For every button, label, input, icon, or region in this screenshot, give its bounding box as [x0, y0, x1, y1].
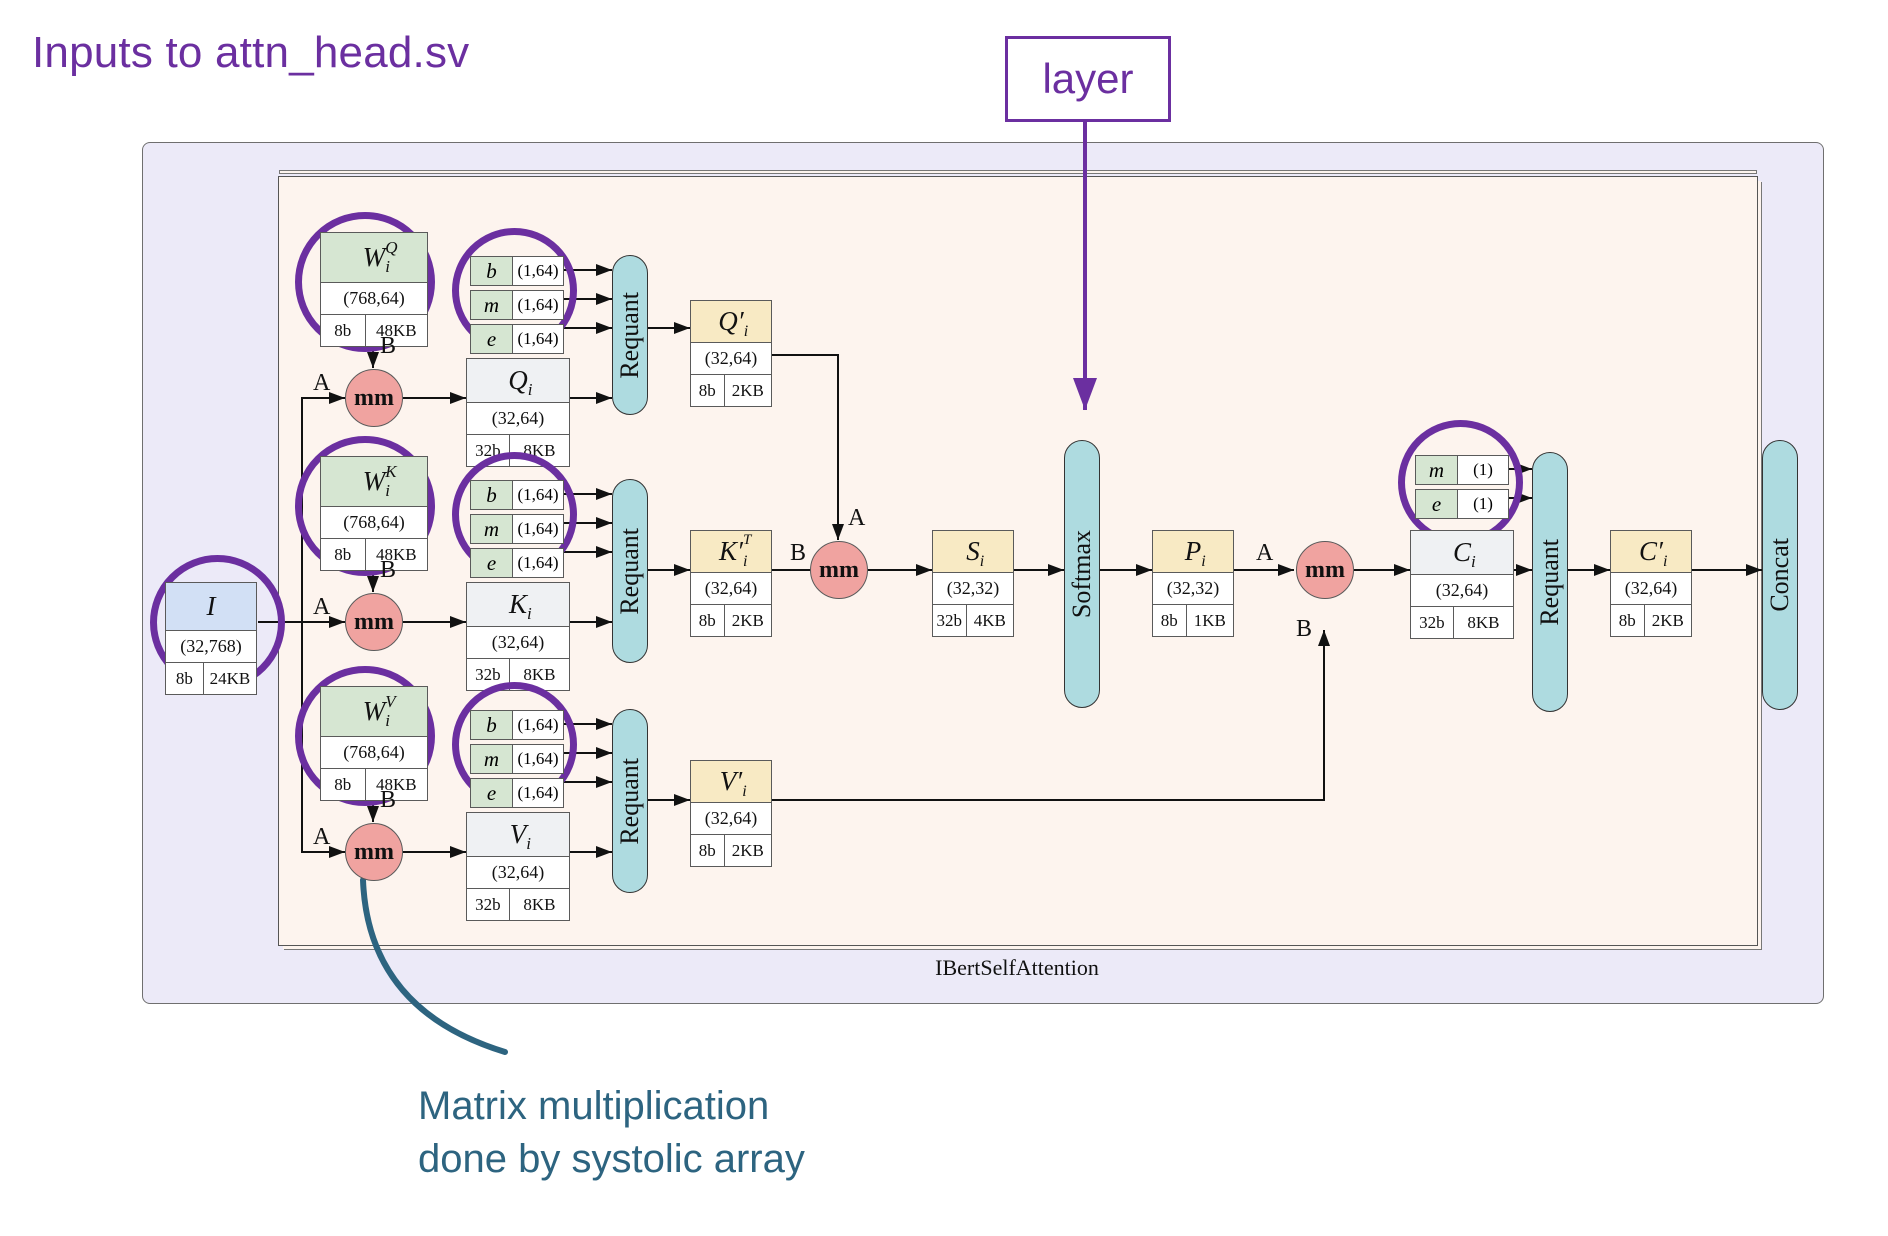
- op-label: Requant: [615, 528, 645, 615]
- tensor-shape: (32,768): [166, 631, 256, 663]
- tensor-shape: (32,64): [691, 573, 771, 605]
- tensor-shape: (32,64): [467, 403, 569, 435]
- tensor-size: 8KB: [1454, 607, 1513, 638]
- page-title: Inputs to attn_head.sv: [32, 28, 469, 78]
- port-label-b-qk: B: [790, 540, 806, 567]
- tensor-name: WKi: [321, 457, 427, 507]
- param-symbol: m: [1416, 456, 1458, 484]
- tensor-bits: 8b: [1153, 605, 1187, 636]
- op-requant-q[interactable]: Requant: [612, 255, 648, 415]
- op-label: Requant: [615, 292, 645, 379]
- tensor-bits: 8b: [691, 605, 725, 636]
- op-requant-k[interactable]: Requant: [612, 479, 648, 663]
- param-row: e(1,64): [470, 548, 564, 578]
- tensor-size: 8KB: [510, 659, 569, 690]
- tensor-name: Vi: [467, 813, 569, 857]
- op-label: Requant: [1535, 539, 1565, 626]
- op-requant-c[interactable]: Requant: [1532, 452, 1568, 712]
- tensor-weight-WK: WKi (768,64) 8b 48KB: [320, 456, 428, 571]
- param-row: e(1): [1415, 489, 1509, 519]
- params-group-v: b(1,64) m(1,64) e(1,64): [470, 710, 564, 812]
- tensor-shape: (768,64): [321, 737, 427, 769]
- tensor-name: Si: [933, 531, 1013, 573]
- param-shape: (1): [1458, 490, 1508, 518]
- param-shape: (1,64): [513, 549, 563, 577]
- port-label-a-pv: A: [1256, 540, 1273, 567]
- tensor-weight-WV: WVi (768,64) 8b 48KB: [320, 686, 428, 801]
- tensor-Si: Si (32,32) 32b4KB: [932, 530, 1014, 637]
- tensor-size: 2KB: [725, 605, 771, 636]
- param-shape: (1,64): [513, 291, 563, 319]
- params-group-q: b(1,64) m(1,64) e(1,64): [470, 256, 564, 358]
- param-shape: (1,64): [513, 515, 563, 543]
- tensor-Qi: Qi (32,64) 32b8KB: [466, 358, 570, 467]
- tensor-name: K′Ti: [691, 531, 771, 573]
- params-group-k: b(1,64) m(1,64) e(1,64): [470, 480, 564, 582]
- tensor-name: WVi: [321, 687, 427, 737]
- param-shape: (1,64): [513, 711, 563, 739]
- param-row: b(1,64): [470, 480, 564, 510]
- tensor-name: I: [166, 583, 256, 631]
- param-row: m(1): [1415, 455, 1509, 485]
- param-shape: (1,64): [513, 481, 563, 509]
- param-row: b(1,64): [470, 256, 564, 286]
- tensor-bits: 8b: [321, 769, 366, 800]
- tensor-bits: 8b: [691, 375, 725, 406]
- tensor-shape: (32,32): [933, 573, 1013, 605]
- tensor-shape: (768,64): [321, 283, 427, 315]
- matmul-node-pv[interactable]: mm: [1296, 541, 1354, 599]
- port-label-a-k: A: [313, 594, 330, 621]
- param-symbol: e: [471, 325, 513, 353]
- param-symbol: b: [471, 711, 513, 739]
- tensor-size: 4KB: [967, 605, 1013, 636]
- port-label-b-k: B: [380, 557, 396, 584]
- tensor-size: 24KB: [204, 663, 256, 694]
- tensor-name: Qi: [467, 359, 569, 403]
- tensor-Ki: Ki (32,64) 32b8KB: [466, 582, 570, 691]
- param-symbol: e: [1416, 490, 1458, 518]
- param-shape: (1,64): [513, 325, 563, 353]
- tensor-size: 2KB: [725, 835, 771, 866]
- param-symbol: b: [471, 257, 513, 285]
- params-group-c: m(1) e(1): [1415, 455, 1509, 523]
- param-symbol: e: [471, 779, 513, 807]
- tensor-size: 48KB: [366, 769, 427, 800]
- param-symbol: m: [471, 515, 513, 543]
- tensor-bits: 32b: [467, 889, 510, 920]
- tensor-size: 48KB: [366, 315, 427, 346]
- matmul-node-qk[interactable]: mm: [810, 541, 868, 599]
- tensor-bits: 32b: [467, 435, 510, 466]
- tensor-shape: (32,64): [1411, 575, 1513, 607]
- tensor-size: 1KB: [1187, 605, 1233, 636]
- tensor-name: Q′i: [691, 301, 771, 343]
- tensor-name: Ki: [467, 583, 569, 627]
- port-label-b-pv: B: [1296, 616, 1312, 643]
- bottom-annotation: Matrix multiplication done by systolic a…: [418, 1080, 805, 1186]
- op-softmax[interactable]: Softmax: [1064, 440, 1100, 708]
- port-label-a-q: A: [313, 370, 330, 397]
- port-label-b-q: B: [380, 333, 396, 360]
- tensor-shape: (32,64): [691, 803, 771, 835]
- tensor-name: Pi: [1153, 531, 1233, 573]
- matmul-node-k[interactable]: mm: [345, 593, 403, 651]
- tensor-name: C′i: [1611, 531, 1691, 573]
- tensor-shape: (768,64): [321, 507, 427, 539]
- tensor-name: WQi: [321, 233, 427, 283]
- param-shape: (1,64): [513, 257, 563, 285]
- tensor-size: 2KB: [725, 375, 771, 406]
- param-shape: (1,64): [513, 745, 563, 773]
- tensor-Ci: Ci (32,64) 32b8KB: [1410, 530, 1514, 639]
- tensor-bits: 32b: [1411, 607, 1454, 638]
- tensor-input-I: I (32,768) 8b 24KB: [165, 582, 257, 695]
- tensor-bits: 32b: [467, 659, 510, 690]
- tensor-size: 8KB: [510, 889, 569, 920]
- tensor-weight-WQ: WQi (768,64) 8b 48KB: [320, 232, 428, 347]
- tensor-name: Ci: [1411, 531, 1513, 575]
- param-row: e(1,64): [470, 324, 564, 354]
- container-label: IBertSelfAttention: [278, 955, 1756, 981]
- tensor-shape: (32,64): [467, 627, 569, 659]
- tensor-Pi: Pi (32,32) 8b1KB: [1152, 530, 1234, 637]
- port-label-a-v: A: [313, 824, 330, 851]
- tensor-shape: (32,64): [1611, 573, 1691, 605]
- tensor-bits: 8b: [321, 539, 366, 570]
- matmul-node-v[interactable]: mm: [345, 823, 403, 881]
- tensor-size: 8KB: [510, 435, 569, 466]
- layer-callout: layer: [1005, 36, 1171, 122]
- op-label: Requant: [615, 758, 645, 845]
- port-label-b-v: B: [380, 787, 396, 814]
- tensor-Qprime: Q′i (32,64) 8b2KB: [690, 300, 772, 407]
- tensor-size: 48KB: [366, 539, 427, 570]
- param-shape: (1,64): [513, 779, 563, 807]
- tensor-size: 2KB: [1645, 605, 1691, 636]
- param-shape: (1): [1458, 456, 1508, 484]
- tensor-bits: 32b: [933, 605, 967, 636]
- tensor-shape: (32,32): [1153, 573, 1233, 605]
- op-requant-v[interactable]: Requant: [612, 709, 648, 893]
- tensor-bits: 8b: [166, 663, 204, 694]
- tensor-bits: 8b: [1611, 605, 1645, 636]
- tensor-bits: 8b: [321, 315, 366, 346]
- param-row: b(1,64): [470, 710, 564, 740]
- op-label: Softmax: [1067, 530, 1097, 618]
- param-symbol: m: [471, 291, 513, 319]
- tensor-Vi: Vi (32,64) 32b8KB: [466, 812, 570, 921]
- tensor-bits: 8b: [691, 835, 725, 866]
- param-row: m(1,64): [470, 514, 564, 544]
- tensor-Cprime: C′i (32,64) 8b2KB: [1610, 530, 1692, 637]
- param-symbol: e: [471, 549, 513, 577]
- tensor-shape: (32,64): [691, 343, 771, 375]
- param-row: m(1,64): [470, 290, 564, 320]
- tensor-Vprime: V′i (32,64) 8b2KB: [690, 760, 772, 867]
- param-row: m(1,64): [470, 744, 564, 774]
- matmul-node-q[interactable]: mm: [345, 369, 403, 427]
- tensor-Kprime-T: K′Ti (32,64) 8b2KB: [690, 530, 772, 637]
- tensor-shape: (32,64): [467, 857, 569, 889]
- op-label: Concat: [1765, 538, 1795, 612]
- port-label-a-qk: A: [848, 505, 865, 532]
- tensor-name: V′i: [691, 761, 771, 803]
- op-concat[interactable]: Concat: [1762, 440, 1798, 710]
- param-row: e(1,64): [470, 778, 564, 808]
- param-symbol: m: [471, 745, 513, 773]
- param-symbol: b: [471, 481, 513, 509]
